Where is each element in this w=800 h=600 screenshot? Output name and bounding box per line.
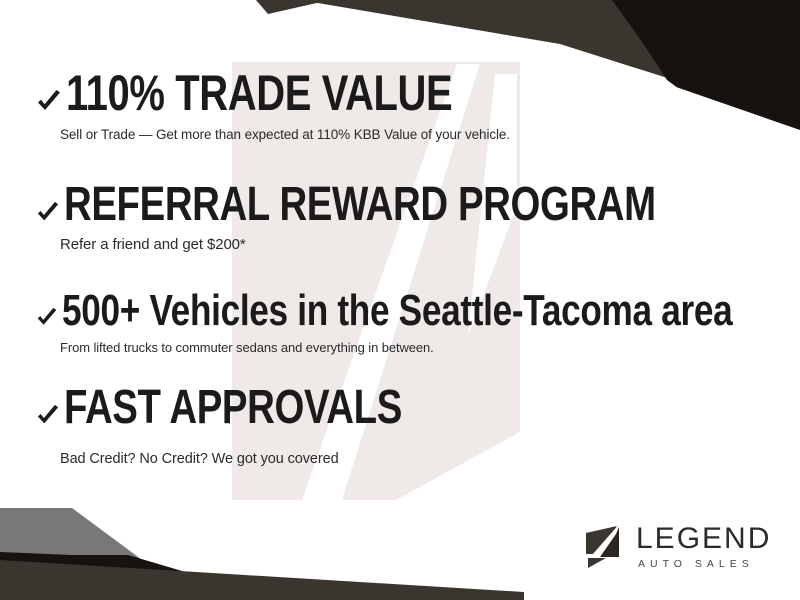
feature-subline: Sell or Trade — Get more than expected a… <box>60 127 780 142</box>
logo-tagline: AUTO SALES <box>638 559 771 570</box>
promo-slide: 110% TRADE VALUE Sell or Trade — Get mor… <box>0 0 800 600</box>
legend-wing-mark-icon <box>583 524 625 570</box>
feature-subline: Bad Credit? No Credit? We got you covere… <box>60 451 780 467</box>
feature-headline: REFERRAL REWARD PROGRAM <box>64 182 656 228</box>
feature-headline: 110% TRADE VALUE <box>66 70 452 118</box>
feature-item: FAST APPROVALS Bad Credit? No Credit? We… <box>36 385 780 467</box>
feature-item: 110% TRADE VALUE Sell or Trade — Get mor… <box>36 70 780 142</box>
feature-subline: Refer a friend and get $200* <box>60 236 780 253</box>
feature-headline-row: 500+ Vehicles in the Seattle-Tacoma area <box>36 290 780 332</box>
feature-list: 110% TRADE VALUE Sell or Trade — Get mor… <box>0 0 800 600</box>
feature-headline-row: 110% TRADE VALUE <box>36 70 780 118</box>
feature-headline-row: REFERRAL REWARD PROGRAM <box>36 182 780 228</box>
logo-wordmark: LEGEND AUTO SALES <box>636 524 771 570</box>
legend-auto-sales-logo: LEGEND AUTO SALES <box>583 524 771 570</box>
check-icon <box>36 201 60 225</box>
feature-headline-row: FAST APPROVALS <box>36 385 780 431</box>
feature-headline: FAST APPROVALS <box>64 385 402 431</box>
feature-item: REFERRAL REWARD PROGRAM Refer a friend a… <box>36 182 780 253</box>
check-icon <box>36 89 62 115</box>
check-icon <box>36 404 60 428</box>
feature-subline: From lifted trucks to commuter sedans an… <box>60 340 780 355</box>
feature-item: 500+ Vehicles in the Seattle-Tacoma area… <box>36 290 780 355</box>
check-icon <box>36 307 58 329</box>
feature-headline: 500+ Vehicles in the Seattle-Tacoma area <box>62 290 732 332</box>
logo-name: LEGEND <box>636 524 771 554</box>
